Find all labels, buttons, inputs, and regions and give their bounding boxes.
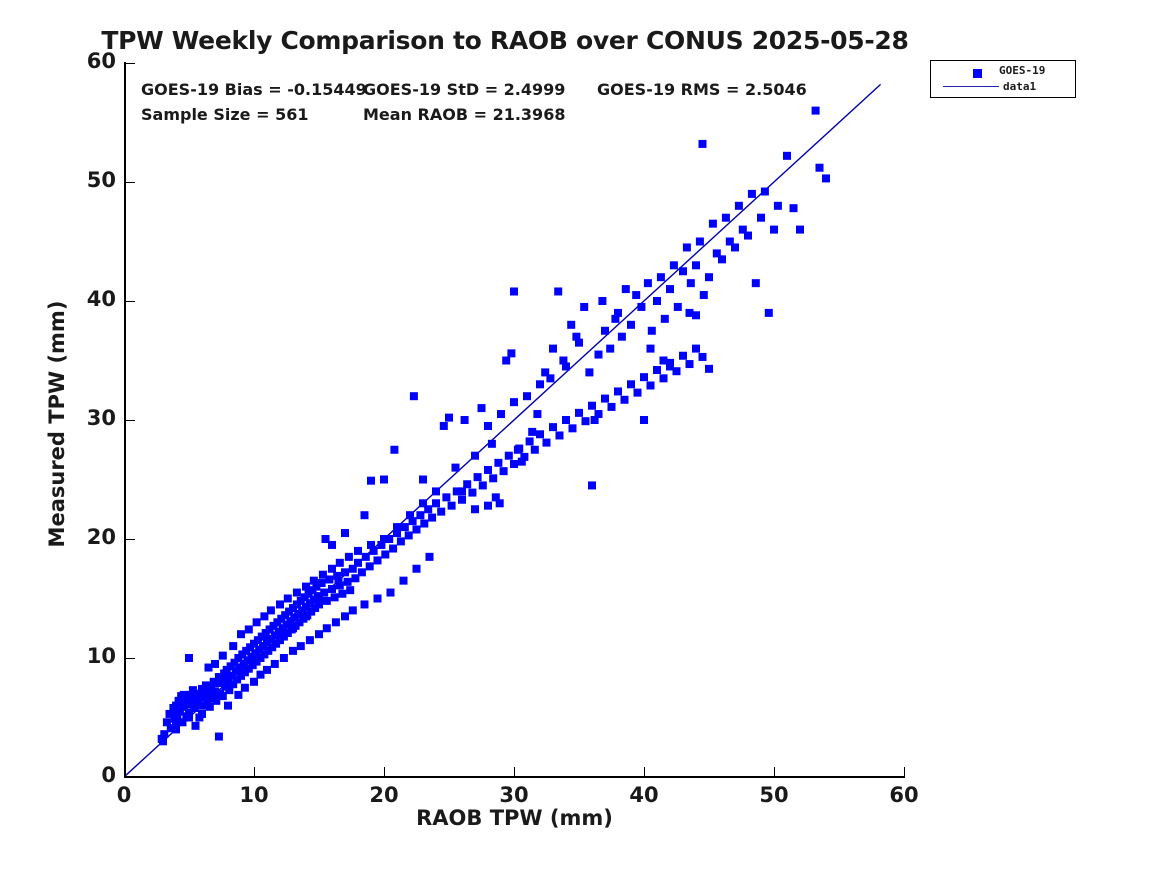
- x-tick-50: [774, 767, 775, 776]
- legend-label-data1: data1: [1003, 80, 1036, 93]
- scatter-points: [158, 107, 830, 746]
- y-tick-20: [126, 539, 135, 540]
- stat-sample-size: Sample Size = 561: [141, 105, 308, 124]
- y-tick-30: [126, 420, 135, 421]
- x-axis-spine: [124, 776, 905, 778]
- legend-line-icon: [943, 86, 999, 87]
- x-tick-20: [384, 767, 385, 776]
- stat-bias: GOES-19 Bias = -0.15449: [141, 80, 367, 99]
- x-tick-0: [124, 767, 125, 776]
- x-tick-10: [254, 767, 255, 776]
- x-ticklabel-10: 10: [224, 783, 284, 807]
- x-tick-30: [514, 767, 515, 776]
- x-ticklabel-40: 40: [614, 783, 674, 807]
- legend-box[interactable]: GOES-19 data1: [930, 60, 1076, 98]
- y-tick-0: [126, 777, 135, 778]
- plot-area: [124, 63, 904, 777]
- stat-std: GOES-19 StD = 2.4999: [363, 80, 565, 99]
- x-ticklabel-20: 20: [354, 783, 414, 807]
- y-tick-60: [126, 63, 135, 64]
- x-tick-60: [904, 767, 905, 776]
- legend-label-goes19: GOES-19: [999, 64, 1045, 77]
- x-tick-40: [644, 767, 645, 776]
- page-title: TPW Weekly Comparison to RAOB over CONUS…: [0, 26, 1010, 55]
- y-tick-10: [126, 658, 135, 659]
- x-ticklabel-50: 50: [744, 783, 804, 807]
- stat-rms: GOES-19 RMS = 2.5046: [597, 80, 807, 99]
- y-axis-label: Measured TPW (mm): [45, 67, 69, 781]
- legend-marker-icon: [973, 69, 982, 78]
- y-tick-40: [126, 301, 135, 302]
- y-tick-50: [126, 182, 135, 183]
- x-ticklabel-60: 60: [874, 783, 934, 807]
- stat-mean-raob: Mean RAOB = 21.3968: [363, 105, 565, 124]
- scatter-plot-canvas: [124, 63, 904, 777]
- x-ticklabel-30: 30: [484, 783, 544, 807]
- x-axis-label: RAOB TPW (mm): [124, 806, 905, 830]
- figure-canvas: TPW Weekly Comparison to RAOB over CONUS…: [0, 0, 1167, 875]
